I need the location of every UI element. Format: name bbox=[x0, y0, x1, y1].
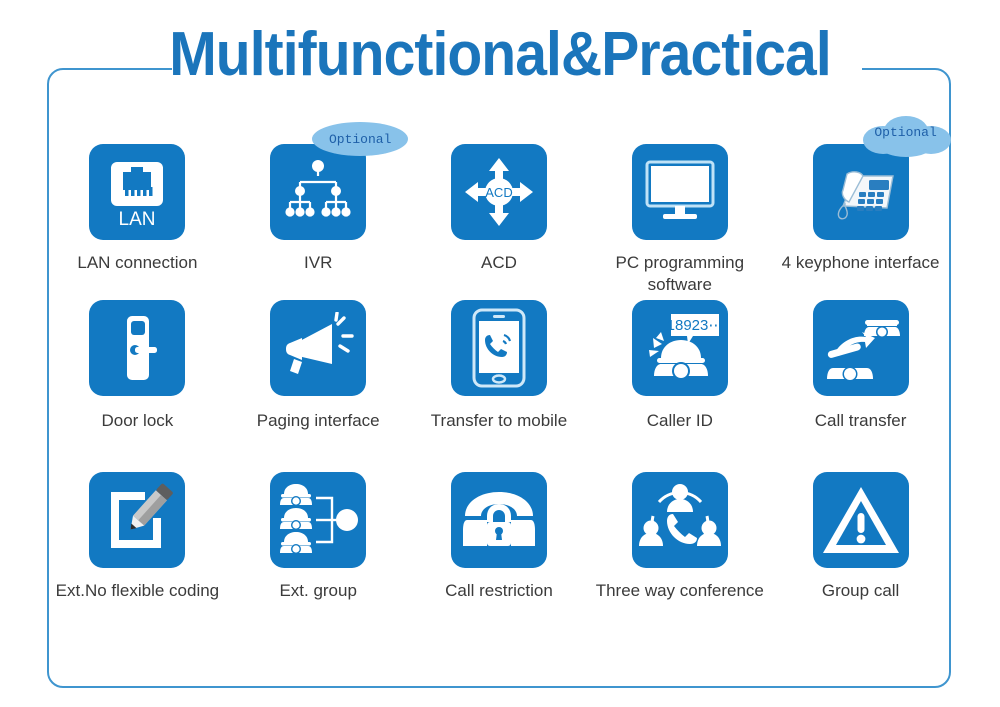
megaphone-icon bbox=[270, 300, 366, 396]
feature-item-three-way-conference[interactable]: Three way conference bbox=[589, 450, 770, 628]
mobile-phone-call-icon bbox=[451, 300, 547, 396]
feature-item-ext-group[interactable]: Ext. group bbox=[228, 450, 409, 628]
page-title: Multifunctional&Practical bbox=[40, 24, 960, 86]
svg-text:ACD: ACD bbox=[485, 185, 512, 200]
feature-label: IVR bbox=[304, 252, 332, 274]
feature-label: Call transfer bbox=[815, 410, 907, 432]
feature-grid: LAN LAN connection bbox=[47, 100, 951, 686]
svg-text:LAN: LAN bbox=[119, 209, 156, 230]
monitor-icon bbox=[632, 144, 728, 240]
feature-item-lan-connection[interactable]: LAN LAN connection bbox=[47, 100, 228, 278]
feature-item-call-transfer[interactable]: Call transfer bbox=[770, 278, 951, 450]
feature-item-ivr[interactable]: Optional IVR bbox=[228, 100, 409, 278]
feature-item-acd[interactable]: ACD ACD bbox=[409, 100, 590, 278]
feature-label: Transfer to mobile bbox=[431, 410, 567, 432]
feature-label: Group call bbox=[822, 580, 899, 602]
optional-badge-label: Optional bbox=[851, 125, 961, 140]
page-pencil-icon bbox=[89, 472, 185, 568]
feature-item-4-keyphone-interface[interactable]: Optional 4 keyphone interface bbox=[770, 100, 951, 278]
feature-label: 4 keyphone interface bbox=[782, 252, 940, 274]
feature-label: ACD bbox=[481, 252, 517, 274]
feature-item-call-restriction[interactable]: Call restriction bbox=[409, 450, 590, 628]
phone-lock-icon bbox=[451, 472, 547, 568]
feature-label: Paging interface bbox=[257, 410, 380, 432]
optional-badge: Optional bbox=[312, 122, 408, 156]
conference-handset-people-icon bbox=[632, 472, 728, 568]
acd-four-arrows-icon: ACD bbox=[451, 144, 547, 240]
feature-label: Call restriction bbox=[445, 580, 553, 602]
feature-label: Door lock bbox=[101, 410, 173, 432]
feature-item-group-call[interactable]: Group call bbox=[770, 450, 951, 628]
svg-text:18923⋯: 18923⋯ bbox=[666, 317, 722, 334]
feature-item-paging-interface[interactable]: Paging interface bbox=[228, 278, 409, 450]
phone-group-icon bbox=[270, 472, 366, 568]
feature-item-caller-id[interactable]: 18923⋯ Caller ID bbox=[589, 278, 770, 450]
door-lock-icon bbox=[89, 300, 185, 396]
feature-label: Ext. group bbox=[279, 580, 357, 602]
feature-item-transfer-to-mobile[interactable]: Transfer to mobile bbox=[409, 278, 590, 450]
desk-keyphone-icon: Optional bbox=[813, 144, 909, 240]
feature-item-pc-programming-software[interactable]: PC programming software bbox=[589, 100, 770, 278]
two-phones-arrow-icon bbox=[813, 300, 909, 396]
feature-item-door-lock[interactable]: Door lock bbox=[47, 278, 228, 450]
feature-label: Ext.No flexible coding bbox=[56, 580, 219, 602]
telephone-bubble-icon: 18923⋯ bbox=[632, 300, 728, 396]
feature-label: LAN connection bbox=[77, 252, 197, 274]
feature-label: Caller ID bbox=[647, 410, 713, 432]
ivr-tree-icon: Optional bbox=[270, 144, 366, 240]
warning-triangle-icon bbox=[813, 472, 909, 568]
lan-port-icon: LAN bbox=[89, 144, 185, 240]
feature-item-ext-no-flexible-coding[interactable]: Ext.No flexible coding bbox=[47, 450, 228, 628]
feature-label: Three way conference bbox=[596, 580, 764, 602]
